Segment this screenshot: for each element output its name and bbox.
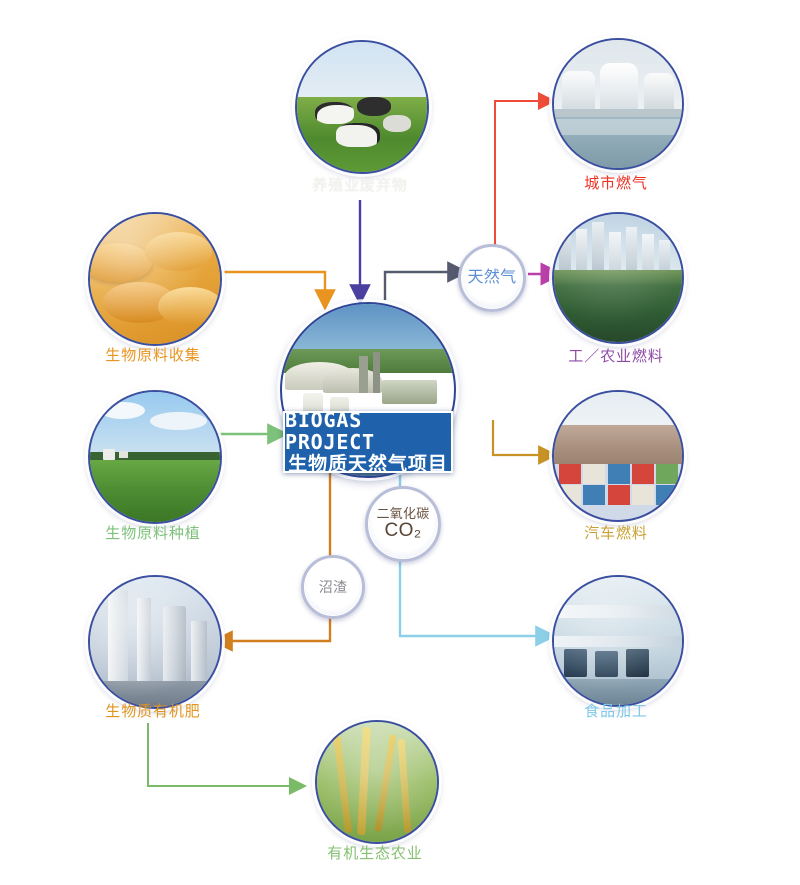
- organic-fertilizer-photo: [88, 575, 222, 709]
- flow-collection-to-hub: [215, 272, 325, 300]
- organic-fertilizer-caption: 生物质有机肥: [58, 700, 248, 721]
- feedstock-planting-photo: [88, 390, 222, 524]
- organic-agriculture-caption: 有机生态农业: [280, 842, 470, 863]
- industrial-agri-fuel-photo: [552, 212, 684, 344]
- flow-hub-to-natural-gas: [385, 272, 458, 300]
- node-carbon-dioxide[interactable]: 二氧化碳 CO₂: [365, 486, 441, 562]
- node-natural-gas[interactable]: 天然气: [458, 244, 526, 312]
- node-biogas-residue[interactable]: 沼渣: [301, 555, 365, 619]
- biogas-project-zh-title: 生物质天然气项目: [288, 454, 448, 475]
- flow-co2-to-food-processing: [400, 556, 546, 636]
- livestock-waste-photo: [295, 40, 429, 174]
- biogas-project-banner: BIOGAS PROJECT 生物质天然气项目: [283, 411, 453, 473]
- industrial-agri-fuel-caption: 工／农业燃料: [526, 345, 706, 366]
- feedstock-collection-caption: 生物原料收集: [58, 344, 248, 365]
- diagram-canvas: 养殖业废弃物 生物原料收集 生物原料种植: [0, 0, 800, 885]
- food-processing-caption: 食品加工: [526, 700, 706, 721]
- flow-residue-to-fertilizer: [222, 613, 330, 641]
- flow-hub-to-vehicle-fuel: [493, 420, 548, 455]
- biogas-project-en-title: BIOGAS PROJECT: [285, 409, 451, 454]
- carbon-dioxide-label-zh: 二氧化碳: [376, 507, 429, 521]
- food-processing-photo: [552, 575, 684, 707]
- carbon-dioxide-label-formula: CO₂: [384, 521, 421, 541]
- feedstock-collection-photo: [88, 212, 222, 346]
- biogas-residue-label: 沼渣: [319, 580, 348, 595]
- natural-gas-label: 天然气: [468, 270, 517, 287]
- city-gas-caption: 城市燃气: [526, 172, 706, 193]
- vehicle-fuel-photo: [552, 390, 684, 522]
- city-gas-photo: [552, 38, 684, 170]
- vehicle-fuel-caption: 汽车燃料: [526, 522, 706, 543]
- livestock-waste-caption: 养殖业废弃物: [265, 174, 455, 195]
- feedstock-planting-caption: 生物原料种植: [58, 522, 248, 543]
- organic-agriculture-photo: [315, 720, 439, 844]
- flow-fertilizer-to-agriculture: [148, 723, 298, 786]
